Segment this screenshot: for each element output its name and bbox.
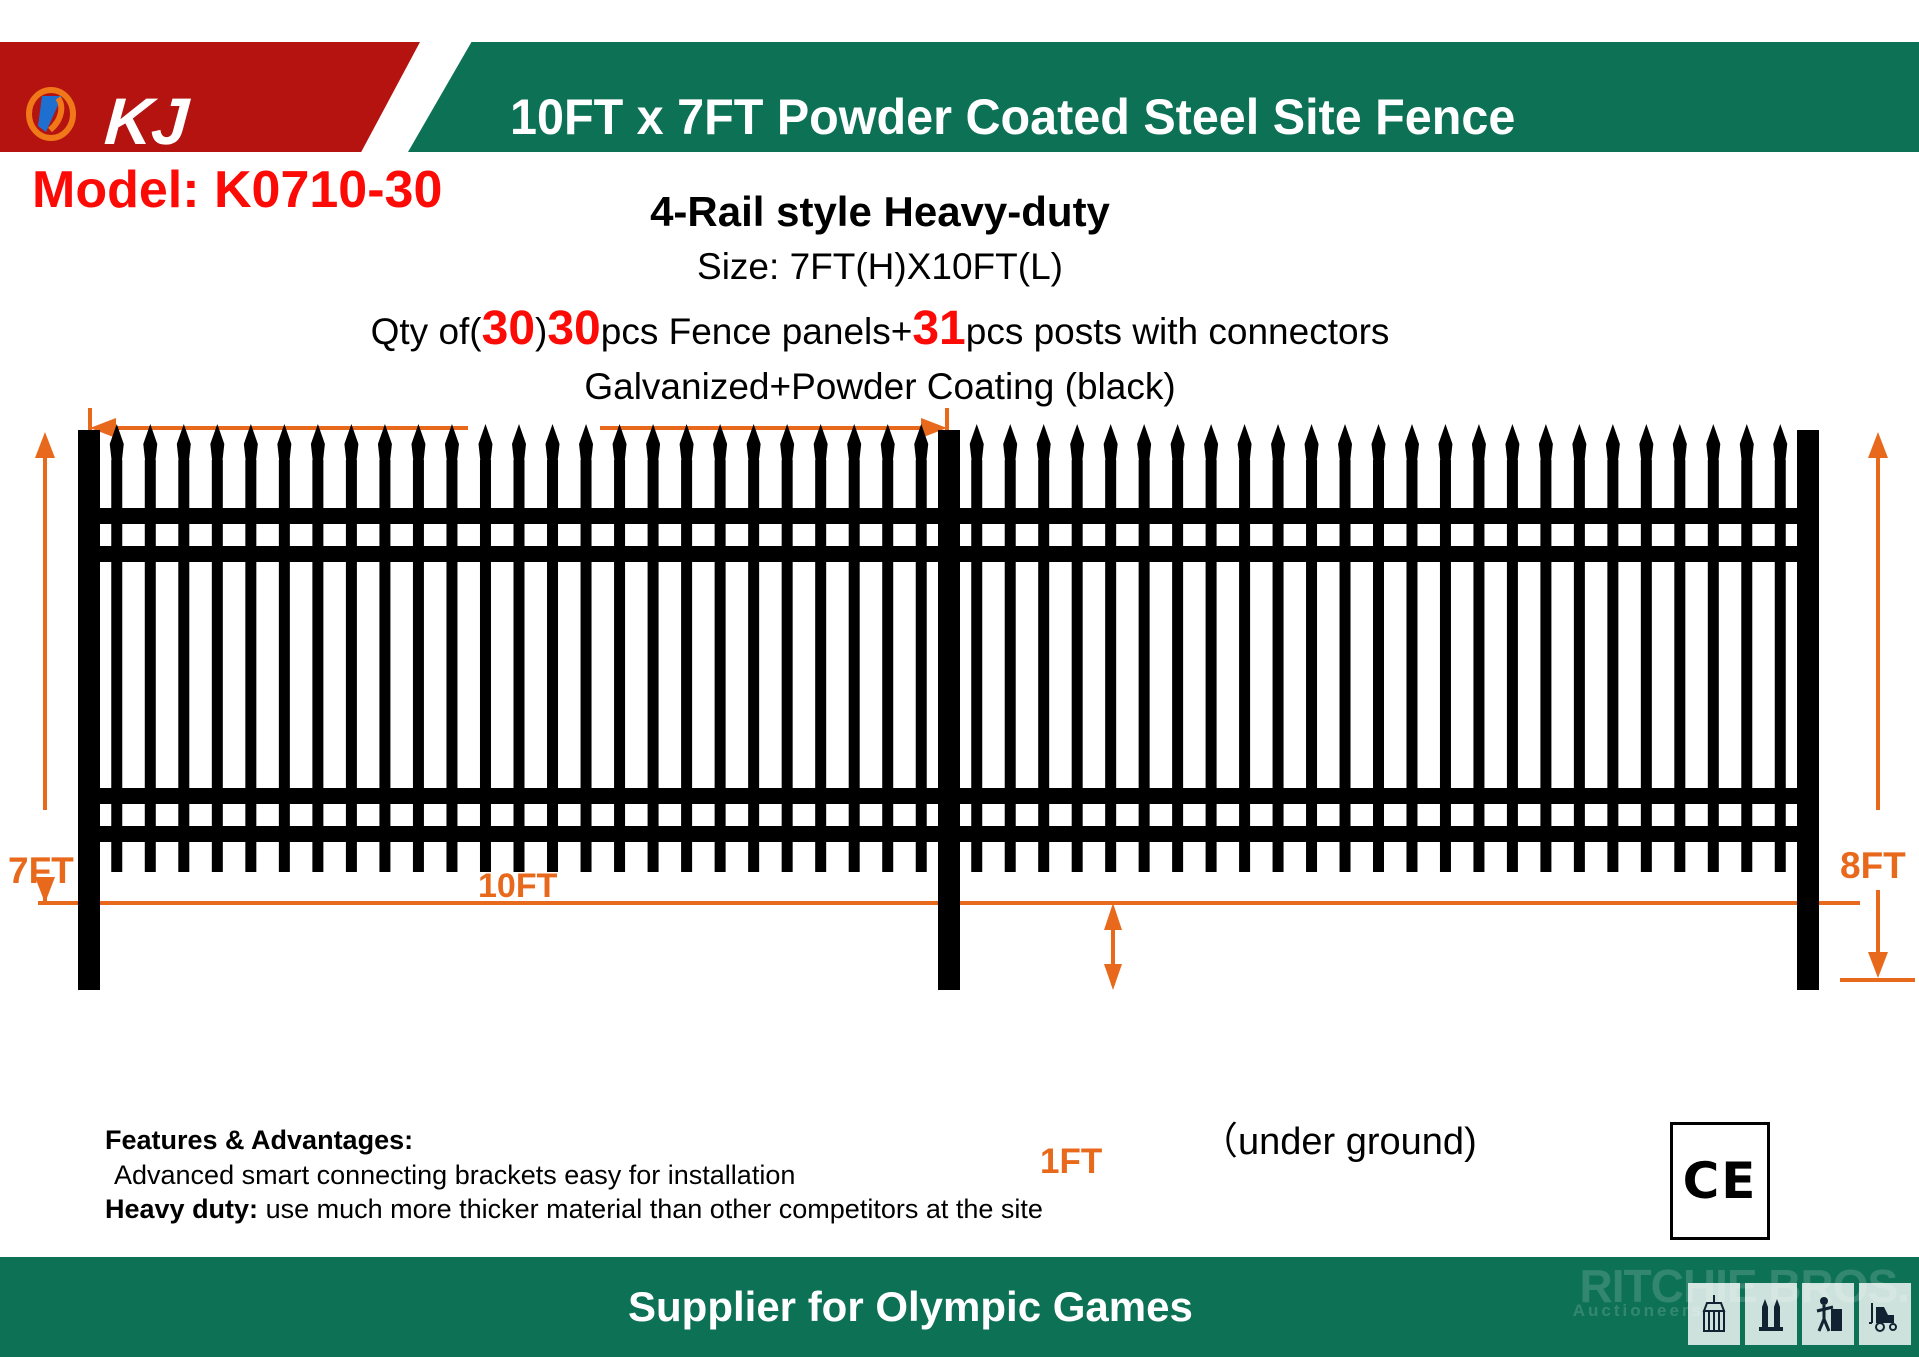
features-line-2: Heavy duty: use much more thicker materi… [105, 1192, 1055, 1227]
fence-diagram-svg [0, 390, 1919, 1130]
forklift-icon [1859, 1283, 1911, 1345]
kj-oval-logo-icon [22, 86, 80, 142]
product-spec-sheet: KJ 10FT x 7FT Powder Coated Steel Site F… [0, 0, 1919, 1357]
ce-mark-text: CE [1673, 1125, 1767, 1237]
qty-part1: Qty of( [371, 311, 482, 352]
watermark-subtext: Auctioneers [1573, 1301, 1704, 1321]
features-block: Features & Advantages: Advanced smart co… [105, 1123, 1055, 1227]
header-bar: KJ 10FT x 7FT Powder Coated Steel Site F… [0, 42, 1919, 152]
qty-part2: ) [535, 311, 547, 352]
heavy-duty-text: use much more thicker material than othe… [258, 1194, 1043, 1224]
footer-icon-row [1688, 1283, 1911, 1345]
label-7ft: 7FT [8, 850, 74, 892]
ce-mark-box: CE [1670, 1122, 1770, 1240]
rail-style: 4-Rail style Heavy-duty [260, 186, 1500, 239]
dimension-1ft [1104, 903, 1122, 990]
qty-num3: 31 [912, 302, 965, 355]
qty-num1: 30 [482, 302, 535, 355]
fence-structure [78, 424, 1819, 990]
worker-icon [1802, 1283, 1854, 1345]
qty-part3: pcs Fence panels+ [601, 311, 913, 352]
brand-name: KJ [102, 83, 190, 159]
footer-slogan: Supplier for Olympic Games [628, 1283, 1193, 1331]
features-line-1: Advanced smart connecting brackets easy … [105, 1158, 1055, 1193]
qty-part4: pcs posts with connectors [966, 311, 1390, 352]
heavy-duty-label: Heavy duty: [105, 1194, 258, 1224]
quantity-text: Qty of(30)30pcs Fence panels+31pcs posts… [260, 299, 1500, 359]
label-8ft: 8FT [1840, 845, 1906, 887]
dimension-8ft [1840, 432, 1915, 980]
qty-num2: 30 [547, 302, 600, 355]
crate-icon [1688, 1283, 1740, 1345]
pillars-icon [1745, 1283, 1797, 1345]
footer-bar: Supplier for Olympic Games RITCHIE BROS.… [0, 1257, 1919, 1357]
spec-block: 4-Rail style Heavy-duty Size: 7FT(H)X10F… [260, 186, 1500, 411]
underground-note: （under ground) [1200, 1110, 1477, 1165]
page-title: 10FT x 7FT Powder Coated Steel Site Fenc… [510, 88, 1868, 146]
label-10ft: 10FT [478, 867, 557, 906]
size-text: Size: 7FT(H)X10FT(L) [260, 243, 1500, 291]
features-title: Features & Advantages: [105, 1123, 1055, 1158]
fence-drawing: 10FT [0, 390, 1919, 1130]
